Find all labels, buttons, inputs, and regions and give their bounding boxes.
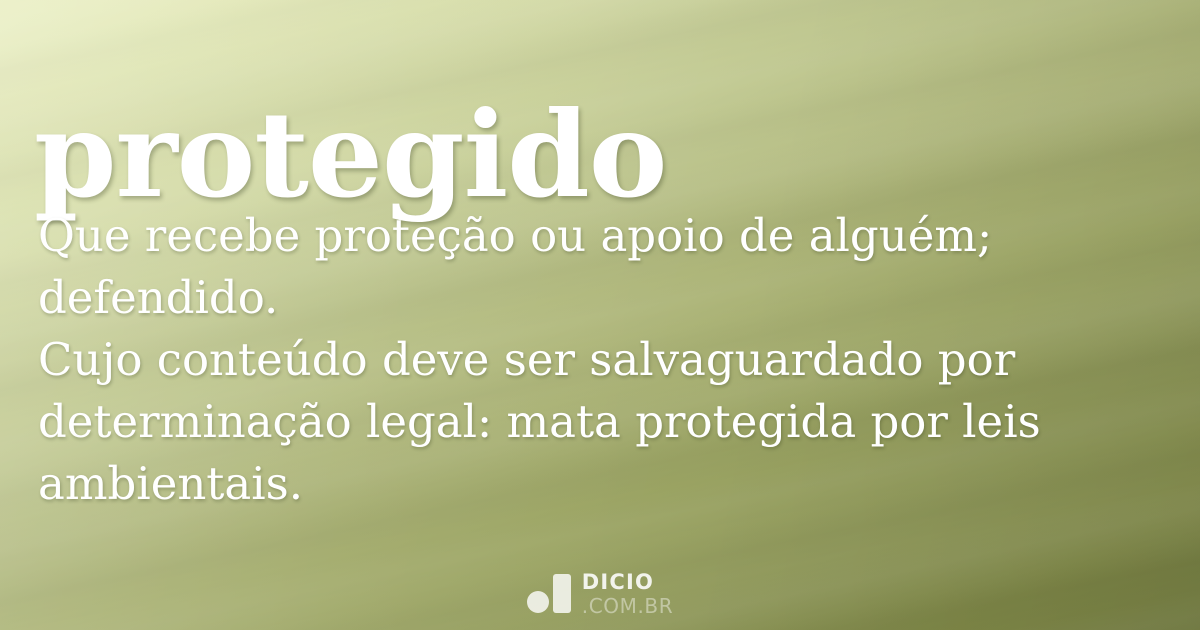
logo-circle-icon [527, 591, 549, 613]
logo-mark-icon [527, 574, 571, 614]
page-title: protegido [34, 96, 667, 214]
definition-list: Que recebe proteção ou apoio de alguém; … [38, 205, 1108, 515]
dicio-logo: DICIO .COM.BR [0, 572, 1200, 616]
logo-wordmark: DICIO .COM.BR [582, 572, 674, 616]
definition-item: Cujo conteúdo deve ser salvaguardado por… [38, 329, 1108, 515]
definition-card: protegido Que recebe proteção ou apoio d… [0, 0, 1200, 630]
logo-brand-name: DICIO [582, 572, 674, 593]
logo-brand-tld: .COM.BR [582, 596, 674, 616]
card-content: protegido Que recebe proteção ou apoio d… [0, 0, 1200, 630]
logo-bar-icon [553, 574, 571, 613]
definition-item: Que recebe proteção ou apoio de alguém; … [38, 205, 1108, 329]
